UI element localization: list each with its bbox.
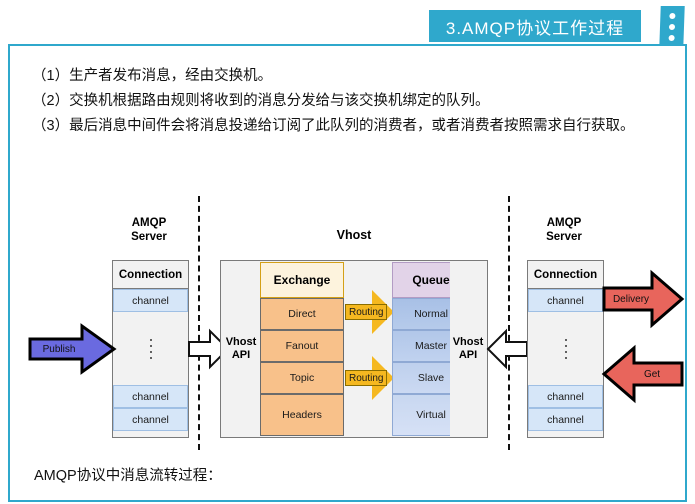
left-server-title-line2: Server bbox=[109, 230, 189, 244]
page-title-banner: 3.AMQP协议工作过程 bbox=[429, 10, 641, 42]
right-channel-top-1: channel bbox=[528, 289, 603, 312]
routing-label-top: Routing bbox=[345, 304, 387, 320]
right-connection-box: Connection channel channel channel bbox=[527, 260, 604, 438]
left-connection-box: Connection channel channel channel bbox=[112, 260, 189, 438]
vhost-api-out-arrow bbox=[486, 330, 528, 368]
vhost-api-right-line1: Vhost bbox=[453, 336, 484, 349]
exchange-item-headers: Headers bbox=[260, 394, 344, 436]
vhost-title: Vhost bbox=[314, 228, 394, 242]
exchange-item-direct: Direct bbox=[260, 298, 344, 330]
delivery-arrow-label: Delivery bbox=[608, 289, 654, 309]
right-server-title: AMQP Server bbox=[524, 216, 604, 244]
dot-icon bbox=[669, 24, 675, 30]
vhost-api-right: Vhost API bbox=[450, 262, 486, 436]
exchange-item-topic: Topic bbox=[260, 362, 344, 394]
dot-icon bbox=[669, 13, 675, 19]
left-channel-bottom-2: channel bbox=[113, 408, 188, 431]
bottom-caption: AMQP协议中消息流转过程： bbox=[34, 464, 222, 485]
right-connection-header: Connection bbox=[528, 261, 603, 289]
left-server-title-line1: AMQP bbox=[109, 216, 189, 230]
get-arrow-label: Get bbox=[632, 364, 672, 384]
publish-arrow-label: Publish bbox=[36, 339, 82, 359]
intro-paragraph-1: （1）生产者发布消息，经由交换机。 bbox=[32, 64, 666, 89]
vhost-title-text: Vhost bbox=[337, 228, 372, 242]
dashed-separator-right bbox=[508, 196, 510, 450]
right-channel-ellipsis bbox=[528, 312, 603, 385]
left-server-title: AMQP Server bbox=[109, 216, 189, 244]
left-channel-ellipsis bbox=[113, 312, 188, 385]
right-server-title-line2: Server bbox=[524, 230, 604, 244]
exchange-header: Exchange bbox=[260, 262, 344, 298]
dashed-separator-left bbox=[198, 196, 200, 450]
routing-label-bottom: Routing bbox=[345, 370, 387, 386]
right-channel-bottom-2: channel bbox=[528, 408, 603, 431]
left-channel-bottom-1: channel bbox=[113, 385, 188, 408]
vhost-api-right-line2: API bbox=[453, 349, 484, 362]
intro-paragraph-3: （3）最后消息中间件会将消息投递给订阅了此队列的消费者，或者消费者按照需求自行获… bbox=[32, 114, 666, 139]
page-title: 3.AMQP协议工作过程 bbox=[446, 14, 624, 39]
vhost-api-left-line2: API bbox=[226, 349, 257, 362]
left-channel-top-1: channel bbox=[113, 289, 188, 312]
dot-icon bbox=[669, 35, 675, 41]
content-frame: （1）生产者发布消息，经由交换机。 （2）交换机根据路由规则将收到的消息分发给与… bbox=[8, 44, 687, 502]
right-server-title-line1: AMQP bbox=[524, 216, 604, 230]
amqp-flow-diagram: AMQP Server Connection channel channel c… bbox=[24, 192, 684, 454]
left-connection-header: Connection bbox=[113, 261, 188, 289]
right-channel-bottom-1: channel bbox=[528, 385, 603, 408]
exchange-item-fanout: Fanout bbox=[260, 330, 344, 362]
intro-paragraph-2: （2）交换机根据路由规则将收到的消息分发给与该交换机绑定的队列。 bbox=[32, 89, 666, 114]
vhost-api-left-line1: Vhost bbox=[226, 336, 257, 349]
vhost-api-left: Vhost API bbox=[222, 262, 260, 436]
intro-paragraph-list: （1）生产者发布消息，经由交换机。 （2）交换机根据路由规则将收到的消息分发给与… bbox=[32, 64, 666, 139]
three-dots-decoration-icon bbox=[659, 6, 684, 48]
